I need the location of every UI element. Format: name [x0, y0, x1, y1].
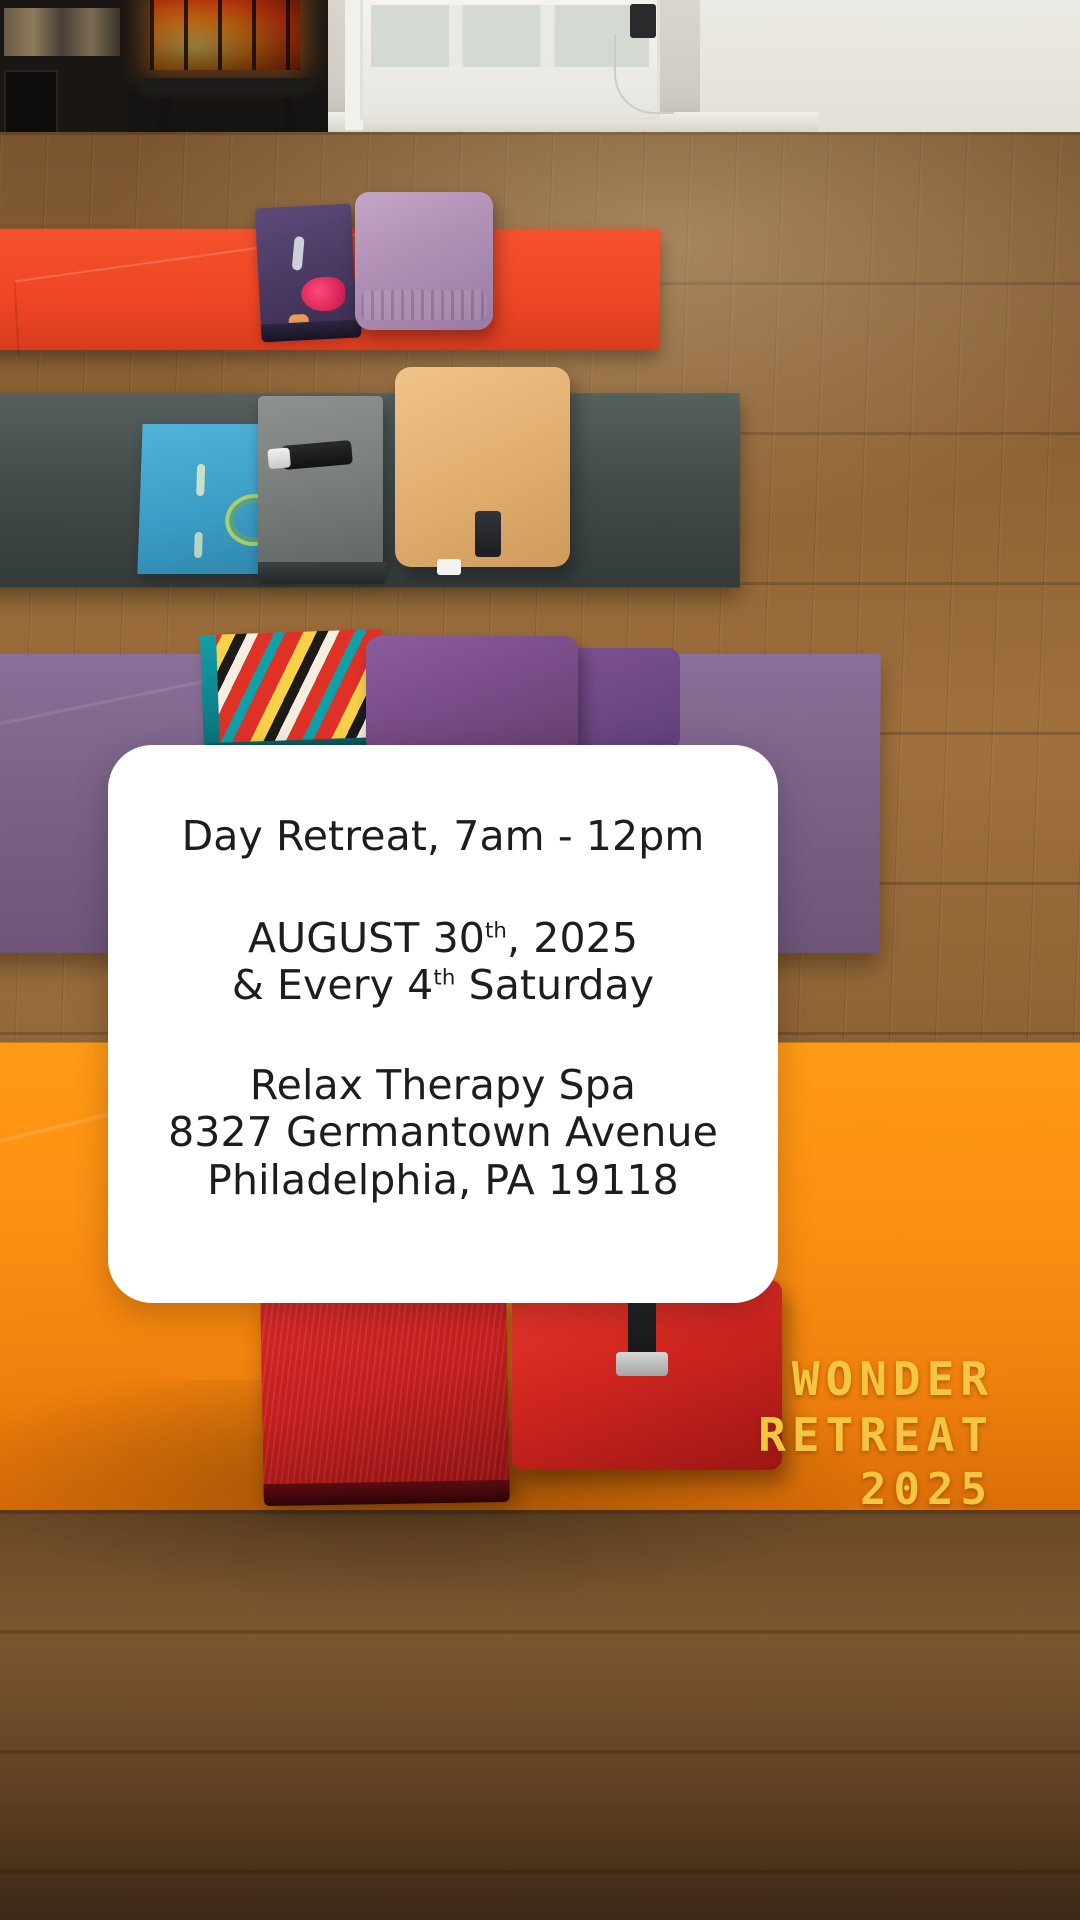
venue-name: Relax Therapy Spa — [250, 1062, 636, 1110]
date-ordinal: th — [485, 918, 507, 943]
date-prefix: AUGUST 30 — [248, 914, 485, 962]
mat-tick-lower — [194, 532, 203, 558]
flyer-canvas: Day Retreat, 7am - 12pm AUGUST 30th, 202… — [0, 0, 1080, 1920]
bolster-lavender — [355, 192, 493, 330]
folded-blanket-purple — [255, 204, 357, 335]
bolster-purple — [366, 636, 578, 754]
bolster-red — [512, 1280, 782, 1470]
recurrence-suffix: Saturday — [455, 961, 654, 1009]
bolster-purple-back — [560, 648, 680, 750]
logo-line-year: 2025 — [860, 1468, 994, 1512]
date-line-primary: AUGUST 30th, 2025 — [248, 915, 638, 963]
mat-tick-upper — [196, 464, 205, 496]
info-card: Day Retreat, 7am - 12pm AUGUST 30th, 202… — [108, 745, 778, 1303]
bolster-strap — [475, 511, 501, 557]
folded-blanket-grey — [258, 396, 383, 574]
logo-line-retreat: RETREAT — [758, 1412, 994, 1458]
folded-blanket-aztec — [204, 629, 386, 753]
logo-line-wonder: WONDER — [792, 1356, 994, 1402]
wonder-retreat-logo: WONDER RETREAT 2025 — [758, 1356, 994, 1512]
blanket-texture — [260, 1296, 509, 1496]
date-block: AUGUST 30th, 2025 & Every 4th Saturday — [232, 915, 654, 1010]
date-line-recurring: & Every 4th Saturday — [232, 962, 654, 1010]
venue-city-state-zip: Philadelphia, PA 19118 — [207, 1157, 679, 1205]
bolster-buckle — [437, 559, 461, 575]
prop-tan — [288, 314, 309, 341]
card-headline: Day Retreat, 7am - 12pm — [182, 813, 705, 861]
thermostat-icon — [630, 4, 656, 38]
bolster-buckle — [616, 1352, 668, 1376]
recurrence-prefix: & Every 4 — [232, 961, 434, 1009]
venue-block: Relax Therapy Spa 8327 Germantown Avenue… — [168, 1062, 718, 1205]
date-suffix: , 2025 — [507, 914, 638, 962]
folded-blanket-red — [260, 1296, 509, 1496]
fire-icon — [150, 0, 300, 70]
recurrence-ordinal: th — [433, 965, 455, 990]
wood-stove — [128, 0, 328, 144]
prop-strap — [292, 236, 305, 271]
bolster-tan — [395, 367, 570, 567]
prop-pink — [300, 276, 346, 312]
venue-street: 8327 Germantown Avenue — [168, 1109, 718, 1157]
bookshelf — [0, 0, 136, 148]
